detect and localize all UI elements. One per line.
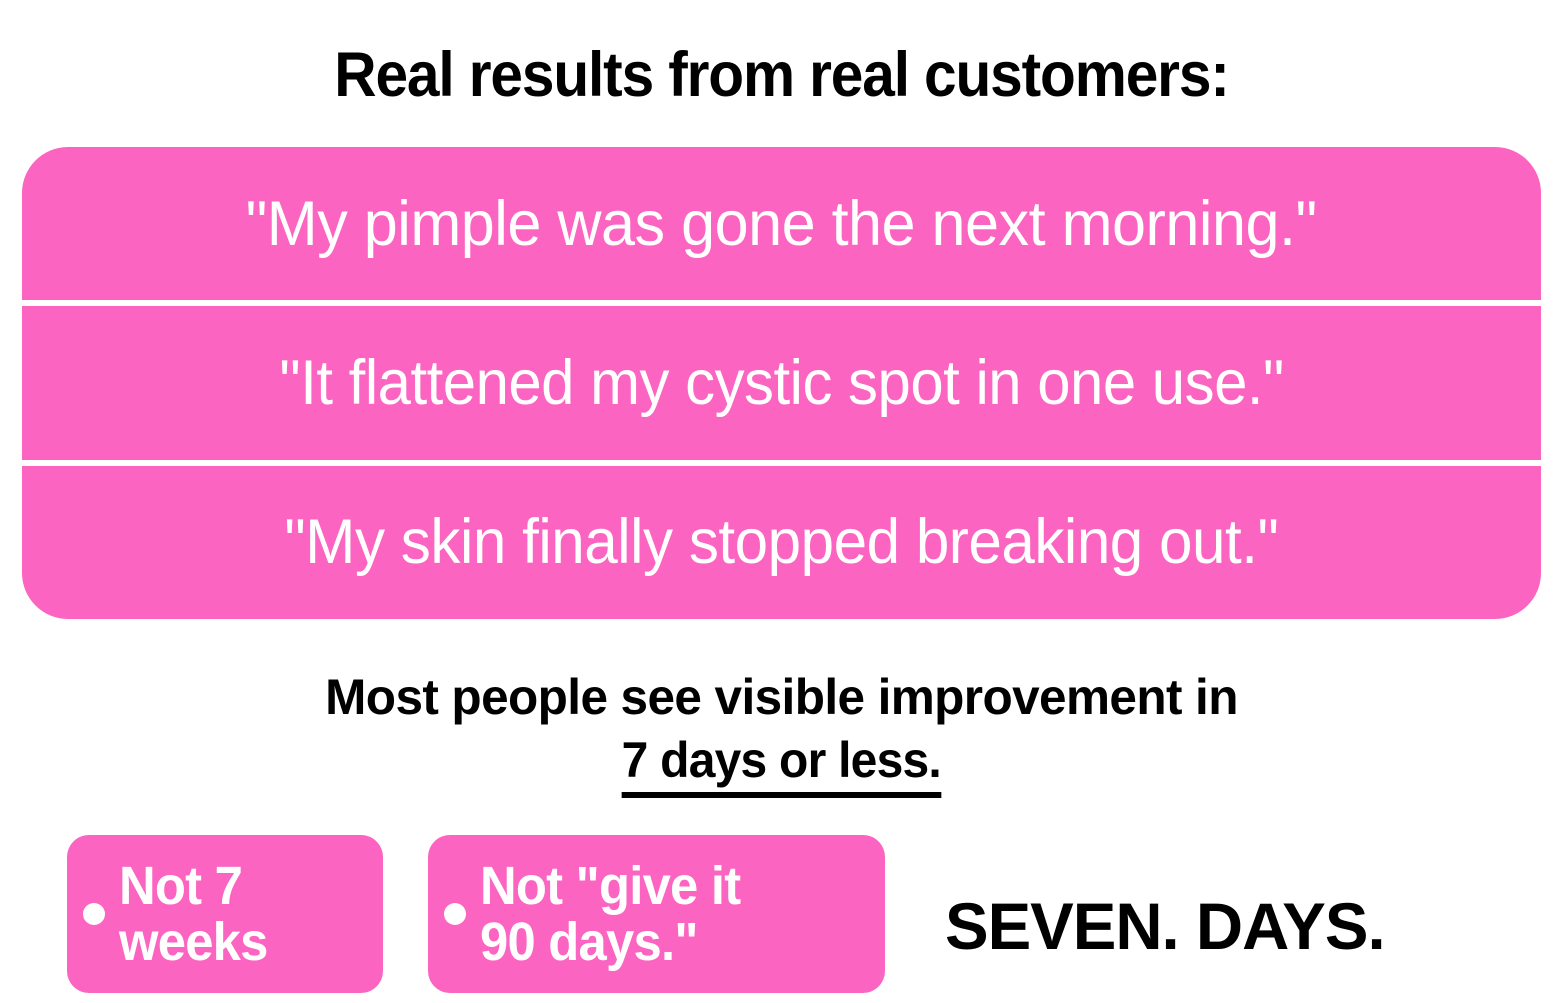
seven-days-emphasis: SEVEN. DAYS.	[945, 893, 1385, 959]
bullet-dot-icon	[444, 903, 466, 925]
promo-graphic: Real results from real customers: "My pi…	[0, 0, 1563, 1003]
improvement-subcopy: Most people see visible improvement in 7…	[0, 668, 1563, 798]
testimonial-quote-2: "It flattened my cystic spot in one use.…	[279, 350, 1283, 416]
subcopy-line-2-emphasis: 7 days or less.	[622, 731, 941, 798]
claim-pill-not-90-days: Not "give it 90 days."	[428, 835, 885, 993]
claim-pill-label-2: Not "give it 90 days."	[480, 858, 740, 970]
testimonial-card-2: "It flattened my cystic spot in one use.…	[22, 306, 1541, 459]
bottom-claims-row: Not 7 weeks Not "give it 90 days." SEVEN…	[67, 835, 1497, 995]
subcopy-line-1: Most people see visible improvement in	[8, 668, 1555, 727]
page-title: Real results from real customers:	[55, 44, 1509, 107]
claim-pill-label-1: Not 7 weeks	[119, 858, 268, 970]
testimonial-quote-1: "My pimple was gone the next morning."	[246, 191, 1317, 257]
claim-pill-not-7-weeks: Not 7 weeks	[67, 835, 383, 993]
testimonial-card-stack: "My pimple was gone the next morning." "…	[22, 147, 1541, 619]
testimonial-card-3: "My skin finally stopped breaking out."	[22, 466, 1541, 619]
testimonial-card-1: "My pimple was gone the next morning."	[22, 147, 1541, 300]
testimonial-quote-3: "My skin finally stopped breaking out."	[285, 509, 1279, 575]
bullet-dot-icon	[83, 903, 105, 925]
